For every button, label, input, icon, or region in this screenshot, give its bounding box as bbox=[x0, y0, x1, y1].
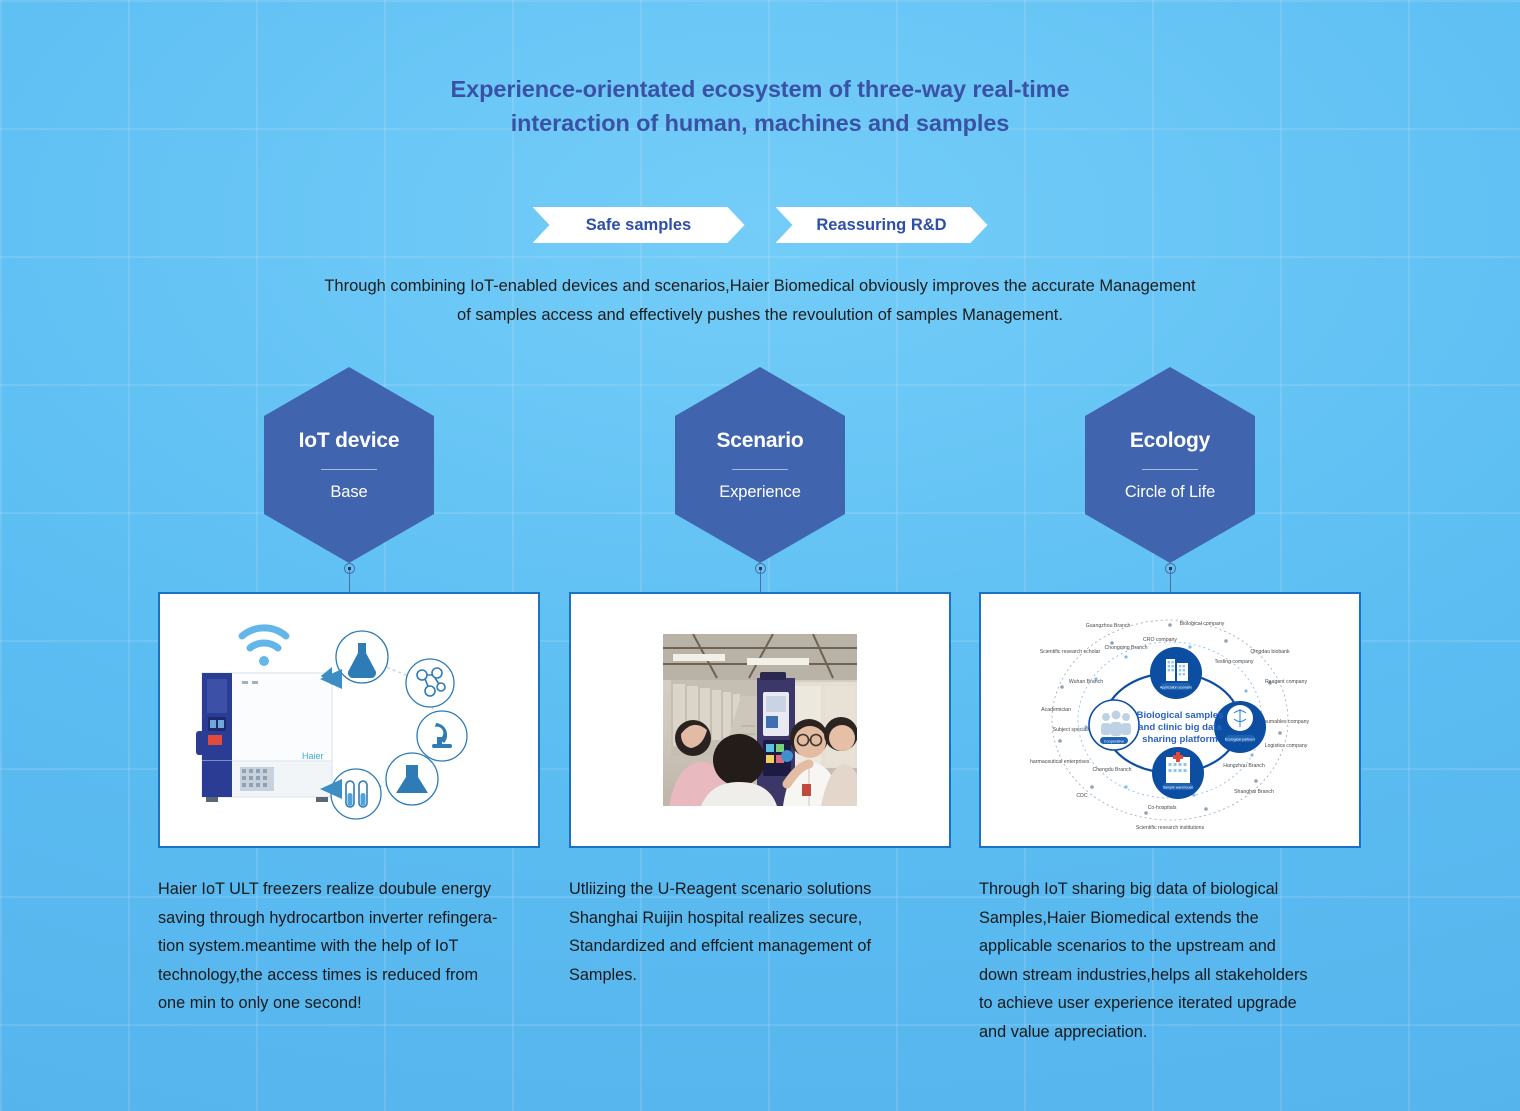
caption-line: to achieve user experience iterated upgr… bbox=[979, 989, 1361, 1018]
card-iot-device[interactable]: Haier bbox=[158, 592, 540, 848]
page-title-line-2: interaction of human, machines and sampl… bbox=[0, 106, 1520, 140]
hexagon-divider bbox=[732, 469, 788, 470]
badge-reassuring-rd[interactable]: Reassuring R&D bbox=[776, 207, 988, 243]
caption-line: and value appreciation. bbox=[979, 1018, 1361, 1047]
page-title: Experience-orientated ecosystem of three… bbox=[0, 72, 1520, 140]
hexagon-subtitle-iot-device: Base bbox=[330, 483, 367, 502]
diagram-node-label: Application scenario bbox=[1160, 685, 1192, 689]
hexagon-wrap-scenario: Scenario Experience bbox=[550, 367, 970, 563]
hexagon-wrap-iot-device: IoT device Base bbox=[139, 367, 559, 563]
badge-row: Safe samples Reassuring R&D bbox=[0, 207, 1520, 243]
diagram-label: CRO company bbox=[1143, 637, 1177, 643]
diagram-label: Hangzhou Branch bbox=[1223, 763, 1265, 769]
intro-paragraph: Through combining IoT-enabled devices an… bbox=[260, 272, 1260, 330]
caption-line: applicable scenarios to the upstream and bbox=[979, 932, 1361, 961]
caption-ecology: Through IoT sharing big data of biologic… bbox=[979, 875, 1361, 1046]
card-ecology[interactable]: Guangzhou Branch Biological company CRO … bbox=[979, 592, 1361, 848]
diagram-label: Reagent company bbox=[1265, 679, 1308, 685]
column-scenario: Scenario Experience bbox=[550, 367, 970, 989]
caption-line: Utliizing the U-Reagent scenario solutio… bbox=[569, 875, 951, 904]
connector-dot-icon bbox=[344, 563, 355, 574]
caption-line: Samples,Haier Biomedical extends the bbox=[979, 904, 1361, 933]
caption-iot-device: Haier IoT ULT freezers realize doubule e… bbox=[158, 875, 540, 1018]
caption-line: Samples. bbox=[569, 961, 951, 990]
caption-line: down stream industries,helps all stakeho… bbox=[979, 961, 1361, 990]
diagram-center-line-3: sharing platform bbox=[1142, 734, 1218, 745]
hexagon-title-scenario: Scenario bbox=[716, 428, 803, 454]
diagram-label: Scientific research institutions bbox=[1136, 825, 1205, 831]
diagram-label: Wuhan Branch bbox=[1069, 679, 1103, 685]
caption-line: Standardized and effcient management of bbox=[569, 932, 951, 961]
column-iot-device: IoT device Base bbox=[139, 367, 559, 1018]
caption-line: one min to only one second! bbox=[158, 989, 540, 1018]
hexagon-divider bbox=[1142, 469, 1198, 470]
page-title-line-1: Experience-orientated ecosystem of three… bbox=[0, 72, 1520, 106]
diagram-node-label: Sample warehouse bbox=[1163, 785, 1194, 789]
intro-line-2: of samples access and effectively pushes… bbox=[260, 301, 1260, 330]
caption-line: technology,the access times is reduced f… bbox=[158, 961, 540, 990]
diagram-node-label: Ecological partners bbox=[1225, 737, 1256, 741]
connector-dot-icon bbox=[755, 563, 766, 574]
hexagon-ecology[interactable]: Ecology Circle of Life bbox=[1085, 367, 1255, 563]
diagram-node-label: Cooperative bbox=[1104, 739, 1124, 743]
caption-line: tion system.meantime with the help of Io… bbox=[158, 932, 540, 961]
connector-iot-device bbox=[139, 563, 559, 592]
connector-dot-icon bbox=[1165, 563, 1176, 574]
caption-scenario: Utliizing the U-Reagent scenario solutio… bbox=[569, 875, 951, 989]
diagram-label: Logistics company bbox=[1265, 743, 1308, 749]
ruijin-hospital-biobank-photo bbox=[663, 634, 857, 806]
diagram-label: Pharmaceutical enterprises bbox=[1030, 759, 1090, 765]
column-ecology: Ecology Circle of Life bbox=[960, 367, 1380, 1046]
diagram-label: CDC bbox=[1076, 793, 1087, 799]
hexagon-title-ecology: Ecology bbox=[1130, 428, 1210, 454]
diagram-label: Shanghai Branch bbox=[1234, 789, 1274, 795]
hexagon-divider bbox=[321, 469, 377, 470]
hexagon-scenario[interactable]: Scenario Experience bbox=[675, 367, 845, 563]
svg-text:Haier: Haier bbox=[302, 751, 324, 761]
caption-line: Through IoT sharing big data of biologic… bbox=[979, 875, 1361, 904]
hexagon-subtitle-ecology: Circle of Life bbox=[1125, 483, 1215, 502]
diagram-label: Chengdu Branch bbox=[1093, 767, 1132, 773]
diagram-label: Chongqing Branch bbox=[1105, 645, 1148, 651]
hexagon-wrap-ecology: Ecology Circle of Life bbox=[960, 367, 1380, 563]
diagram-label: Scientific research scholar bbox=[1040, 649, 1101, 655]
hexagon-title-iot-device: IoT device bbox=[299, 428, 400, 454]
diagram-label: Guangzhou Branch bbox=[1086, 623, 1131, 629]
diagram-label: Academician bbox=[1041, 707, 1071, 713]
intro-line-1: Through combining IoT-enabled devices an… bbox=[260, 272, 1260, 301]
diagram-label: Biological company bbox=[1180, 621, 1225, 627]
infographic-stage: Experience-orientated ecosystem of three… bbox=[0, 0, 1520, 1111]
diagram-label: Co-hospitals bbox=[1148, 805, 1177, 811]
ecology-sharing-platform-diagram: Guangzhou Branch Biological company CRO … bbox=[1030, 605, 1310, 835]
caption-line: Haier IoT ULT freezers realize doubule e… bbox=[158, 875, 540, 904]
caption-line: Shanghai Ruijin hospital realizes secure… bbox=[569, 904, 951, 933]
hexagon-iot-device[interactable]: IoT device Base bbox=[264, 367, 434, 563]
diagram-label: Qingdao biobank bbox=[1250, 649, 1290, 655]
badge-safe-samples[interactable]: Safe samples bbox=[533, 207, 745, 243]
connector-scenario bbox=[550, 563, 970, 592]
caption-line: saving through hydrocartbon inverter ref… bbox=[158, 904, 540, 933]
card-scenario[interactable] bbox=[569, 592, 951, 848]
connector-ecology bbox=[960, 563, 1380, 592]
iot-ult-freezer-illustration: Haier bbox=[184, 611, 514, 829]
hexagon-subtitle-scenario: Experience bbox=[719, 483, 801, 502]
diagram-label: Testing company bbox=[1215, 659, 1254, 665]
diagram-center-line-2: and clinic big data bbox=[1138, 722, 1222, 733]
diagram-center-line-1: Biological samples bbox=[1137, 710, 1224, 721]
